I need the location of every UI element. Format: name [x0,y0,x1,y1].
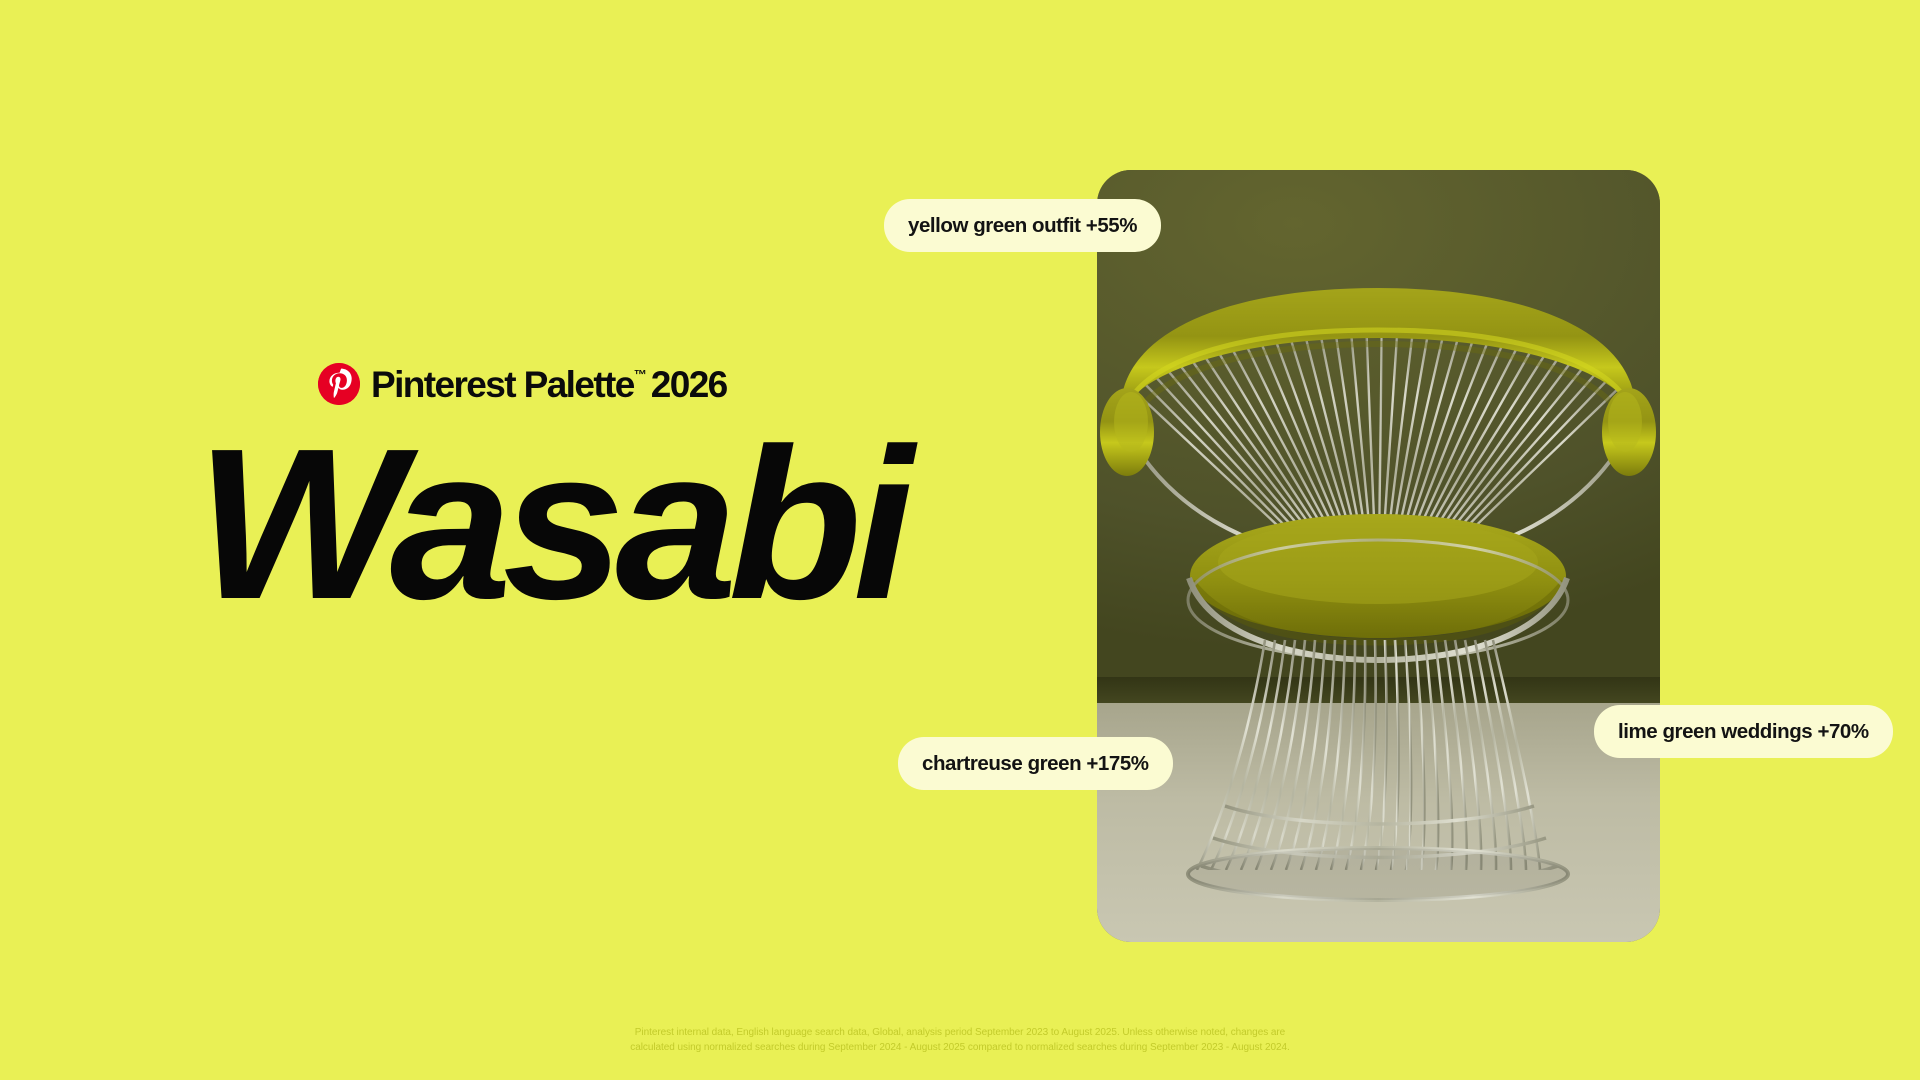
wire-chair-illustration [1097,170,1660,942]
disclaimer-line-1: Pinterest internal data, English languag… [0,1026,1920,1041]
trend-tag-lime-green-weddings[interactable]: lime green weddings +70% [1594,705,1893,758]
brand-name-text: Pinterest Palette [371,366,634,403]
disclaimer-line-2: calculated using normalized searches dur… [0,1041,1920,1056]
brand-wordmark: Pinterest Palette™2026 [371,366,727,403]
trend-tag-chartreuse-green[interactable]: chartreuse green +175% [898,737,1173,790]
pinterest-palette-lockup: Pinterest Palette™2026 [318,360,916,408]
data-disclaimer: Pinterest internal data, English languag… [0,1026,1920,1055]
trend-tag-label: chartreuse green +175% [922,752,1149,776]
pinterest-logo-icon [318,363,360,405]
product-photo-panel [1097,170,1660,942]
branding-block: Pinterest Palette™2026 Wasabi [196,360,916,626]
trend-tag-label: yellow green outfit +55% [908,214,1137,238]
color-name-headline: Wasabi [196,422,930,626]
trademark-symbol: ™ [634,368,647,381]
trend-tag-yellow-green-outfit[interactable]: yellow green outfit +55% [884,199,1161,252]
wasabi-palette-slide: Pinterest Palette™2026 Wasabi [0,0,1920,1080]
brand-year-text: 2026 [651,366,727,403]
trend-tag-label: lime green weddings +70% [1618,720,1869,744]
